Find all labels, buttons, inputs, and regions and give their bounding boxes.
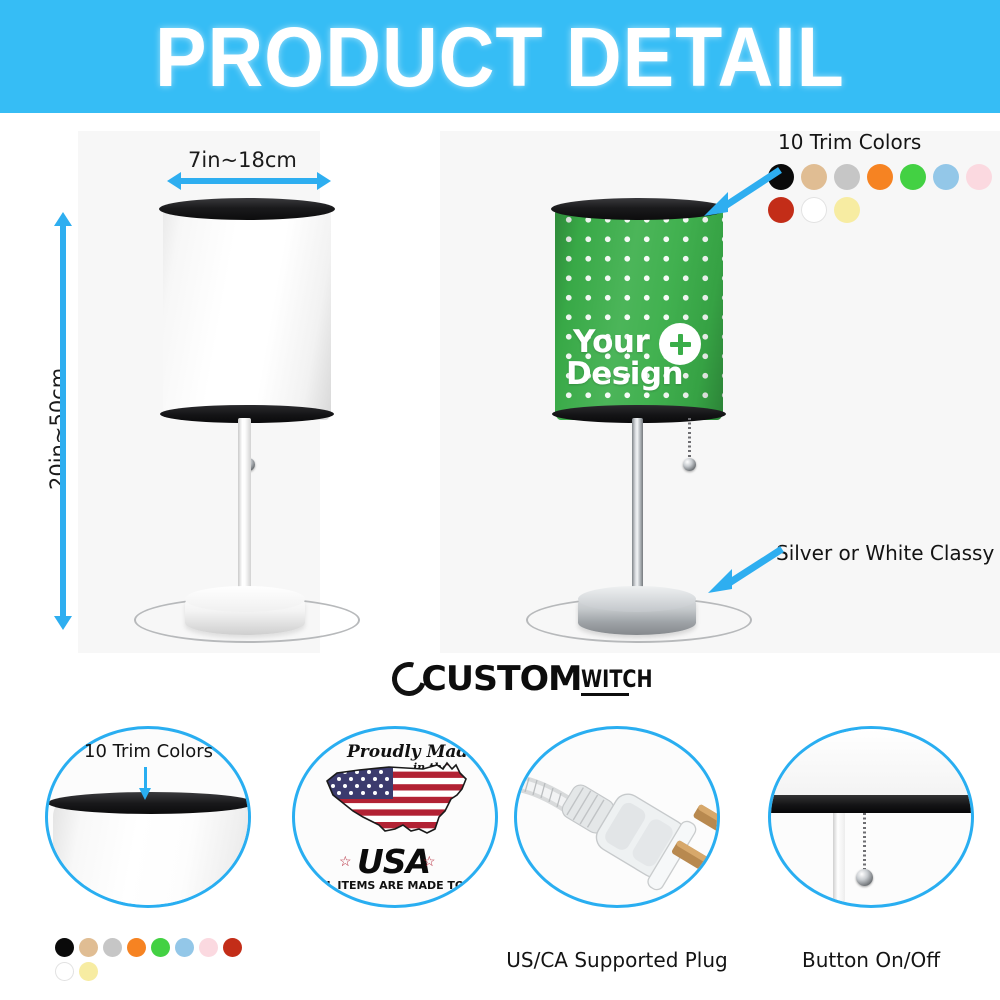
feature-switch-caption: Button On/Off [758, 948, 984, 972]
logo-witch-group: WITCH [581, 667, 670, 696]
usa-badge-line4: ALL ITEMS ARE MADE TO ORDER! [311, 879, 498, 892]
lamp-base-top [185, 586, 305, 612]
lampshade-green: Your Design [555, 205, 723, 420]
trim-color-swatch[interactable] [933, 164, 959, 190]
trim-colors-swatch-panel-top[interactable] [768, 164, 1000, 223]
switch-closeup-chain[interactable] [863, 813, 866, 879]
feature-circle-switch [768, 726, 974, 908]
trim-ring-top [159, 198, 335, 220]
feature-trim-colors-inner-label: 10 Trim Colors [84, 741, 213, 762]
pull-chain-green[interactable] [688, 418, 691, 466]
trim-color-swatch[interactable] [801, 197, 827, 223]
switch-closeup-trim [768, 795, 974, 813]
lamp-pole-silver [632, 418, 643, 596]
panel-bg-block-top [0, 113, 1000, 131]
panel-bg-block-mid [320, 131, 440, 671]
trim-color-swatch[interactable] [55, 938, 74, 957]
logo-custom-text: CUSTOM [421, 662, 581, 696]
trim-color-swatch[interactable] [79, 962, 98, 981]
plus-circle-icon [659, 323, 701, 365]
switch-closeup-pole [833, 813, 845, 908]
base-finish-pointer-arrow [702, 543, 784, 595]
feature-plug-caption: US/CA Supported Plug [504, 948, 730, 972]
feature-circle-made-in-usa: Proudly Made in the [292, 726, 498, 908]
usa-star-right: ☆ [423, 854, 436, 868]
trim-color-swatch[interactable] [175, 938, 194, 957]
lamp-pole [238, 418, 251, 596]
trim-color-swatch[interactable] [103, 938, 122, 957]
lampshade-surface-green: Your Design [555, 205, 723, 420]
trim-color-swatch[interactable] [900, 164, 926, 190]
trim-color-swatch[interactable] [151, 938, 170, 957]
trim-color-swatch[interactable] [55, 962, 74, 981]
height-dimension-label: 20in~50cm [46, 368, 70, 490]
shade-closeup-surface [53, 801, 249, 908]
feature-trim-colors-arrow [144, 767, 147, 789]
switch-closeup-shade [771, 729, 974, 803]
feature-circle-plug [514, 726, 720, 908]
lampshade-surface [163, 205, 331, 420]
usa-map-flag-icon [319, 759, 477, 847]
us-plug-icon [514, 747, 720, 897]
trim-color-swatch[interactable] [834, 197, 860, 223]
switch-closeup-chain-ball [856, 869, 873, 886]
lampshade-white [163, 205, 331, 420]
trim-color-swatch[interactable] [966, 164, 992, 190]
page-header: PRODUCT DETAIL [0, 0, 1000, 113]
trim-color-swatch[interactable] [223, 938, 242, 957]
trim-color-swatch[interactable] [199, 938, 218, 957]
trim-colors-swatch-panel-bottom[interactable] [55, 938, 265, 981]
pull-chain-ball-green [683, 458, 696, 471]
width-dimension-label: 7in~18cm [188, 148, 297, 172]
brand-logo: CUSTOM WITCH [392, 662, 670, 696]
trim-color-swatch[interactable] [801, 164, 827, 190]
lamp-base-top-silver [578, 586, 696, 612]
usa-star-left: ☆ [339, 854, 352, 868]
base-finish-callout-label: Silver or White Classy [776, 541, 994, 565]
usa-badge-line3: USA [357, 845, 430, 878]
product-detail-page: PRODUCT DETAIL 7in~18cm 20in~50cm [0, 0, 1000, 1000]
width-dimension-arrow [180, 178, 318, 184]
logo-underline [581, 693, 629, 696]
trim-color-swatch[interactable] [834, 164, 860, 190]
your-design-line2: Design [566, 357, 683, 391]
height-dimension-arrow [60, 225, 66, 617]
trim-colors-pointer-arrow [696, 166, 782, 218]
trim-color-swatch[interactable] [79, 938, 98, 957]
your-design-line1: Your [573, 325, 649, 359]
logo-witch-text: WITCH [581, 667, 653, 691]
page-title: PRODUCT DETAIL [155, 15, 845, 99]
trim-colors-callout-label: 10 Trim Colors [778, 130, 921, 154]
trim-color-swatch[interactable] [127, 938, 146, 957]
trim-color-swatch[interactable] [867, 164, 893, 190]
